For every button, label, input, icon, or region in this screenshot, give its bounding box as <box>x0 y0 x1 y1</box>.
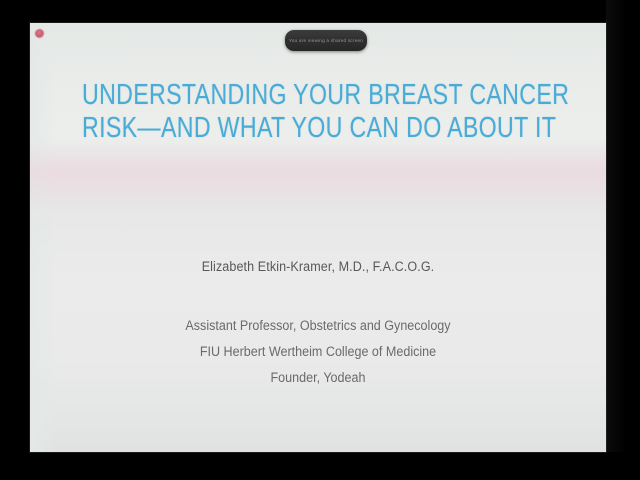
slide-title-line-1: UNDERSTANDING YOUR BREAST CANCER <box>82 79 474 112</box>
slide-tint-band <box>30 143 606 213</box>
affiliation-line-1: Assistant Professor, Obstetrics and Gyne… <box>50 313 586 339</box>
letterbox-top <box>0 0 640 23</box>
recording-indicator-icon <box>35 29 44 38</box>
affiliation-line-2: FIU Herbert Wertheim College of Medicine <box>50 339 586 365</box>
presentation-slide[interactable]: You are viewing a shared screen UNDERSTA… <box>30 23 606 452</box>
screen-share-banner-label: You are viewing a shared screen <box>289 38 363 43</box>
video-frame: You are viewing a shared screen UNDERSTA… <box>0 0 640 480</box>
letterbox-bottom <box>0 452 640 480</box>
letterbox-right <box>606 0 640 480</box>
affiliation-line-3: Founder, Yodeah <box>50 365 586 391</box>
presenter-name: Elizabeth Etkin-Kramer, M.D., F.A.C.O.G. <box>50 259 586 274</box>
presenter-affiliation: Assistant Professor, Obstetrics and Gyne… <box>50 313 586 391</box>
slide-title: UNDERSTANDING YOUR BREAST CANCER RISK—AN… <box>82 79 474 145</box>
slide-title-line-2: RISK—AND WHAT YOU CAN DO ABOUT IT <box>82 112 474 145</box>
screen-share-banner[interactable]: You are viewing a shared screen <box>285 30 367 51</box>
letterbox-left <box>0 0 30 480</box>
